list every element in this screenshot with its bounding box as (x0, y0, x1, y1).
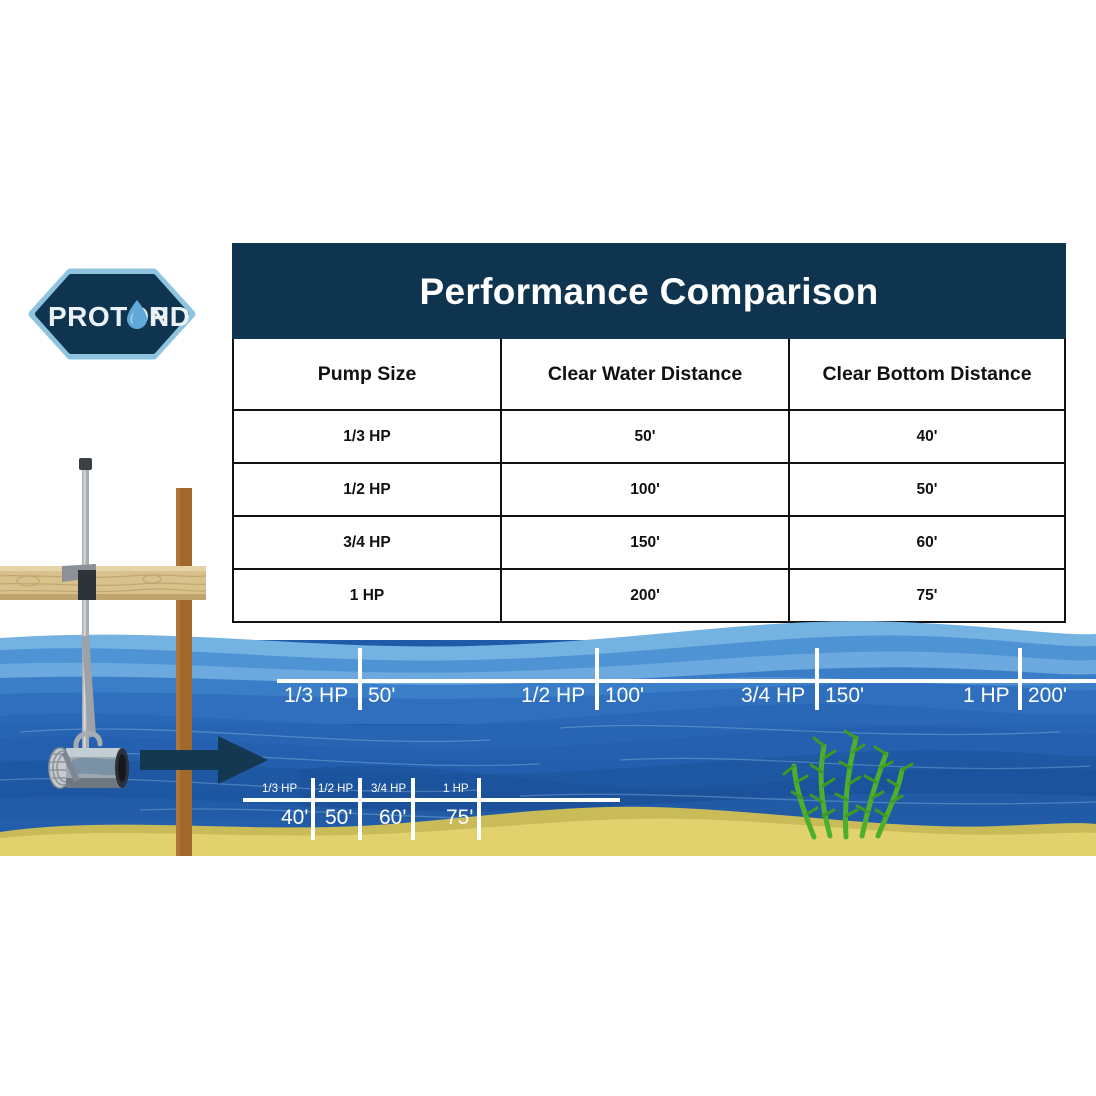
cell-clear-bottom: 40' (789, 410, 1065, 463)
bracket-clamp-icon (78, 570, 96, 600)
cell-pump-size: 1/3 HP (233, 410, 501, 463)
cell-pump-size: 1 HP (233, 569, 501, 622)
cell-clear-water: 200' (501, 569, 789, 622)
logo-text-after: ND (149, 301, 190, 332)
table-title-cell: Performance Comparison (233, 244, 1065, 338)
pole-cap-icon (79, 458, 92, 470)
cell-pump-size: 1/2 HP (233, 463, 501, 516)
plank-bottom-edge (0, 594, 206, 600)
cell-clear-water: 100' (501, 463, 789, 516)
table-row: 1/3 HP 50' 40' (233, 410, 1065, 463)
plank-top-edge (0, 566, 206, 571)
logo-badge-icon: PROTOP ND (26, 266, 198, 362)
brand-logo: PROTOP ND (26, 266, 198, 362)
cell-clear-water: 50' (501, 410, 789, 463)
cell-clear-water: 150' (501, 516, 789, 569)
table-row: 1 HP 200' 75' (233, 569, 1065, 622)
column-header-clear-water-distance: Clear Water Distance (501, 338, 789, 410)
flow-arrow-right-icon (140, 730, 270, 790)
table-title-row: Performance Comparison (233, 244, 1065, 338)
pole-highlight (84, 466, 86, 756)
cell-pump-size: 3/4 HP (233, 516, 501, 569)
submersible-pump-icon (49, 748, 129, 788)
performance-comparison-table: Performance Comparison Pump Size Clear W… (232, 243, 1064, 609)
table-header-row: Pump Size Clear Water Distance Clear Bot… (233, 338, 1065, 410)
table-row: 3/4 HP 150' 60' (233, 516, 1065, 569)
dock-and-pump-assembly (0, 448, 240, 856)
post-highlight (176, 488, 180, 856)
column-header-clear-bottom-distance: Clear Bottom Distance (789, 338, 1065, 410)
infographic-canvas: PROTOP ND Performance Comparison Pump Si… (0, 0, 1096, 1096)
cell-clear-bottom: 60' (789, 516, 1065, 569)
cell-clear-bottom: 75' (789, 569, 1065, 622)
cell-clear-bottom: 50' (789, 463, 1065, 516)
page-title: Performance Comparison (234, 273, 1064, 310)
table-row: 1/2 HP 100' 50' (233, 463, 1065, 516)
column-header-pump-size: Pump Size (233, 338, 501, 410)
